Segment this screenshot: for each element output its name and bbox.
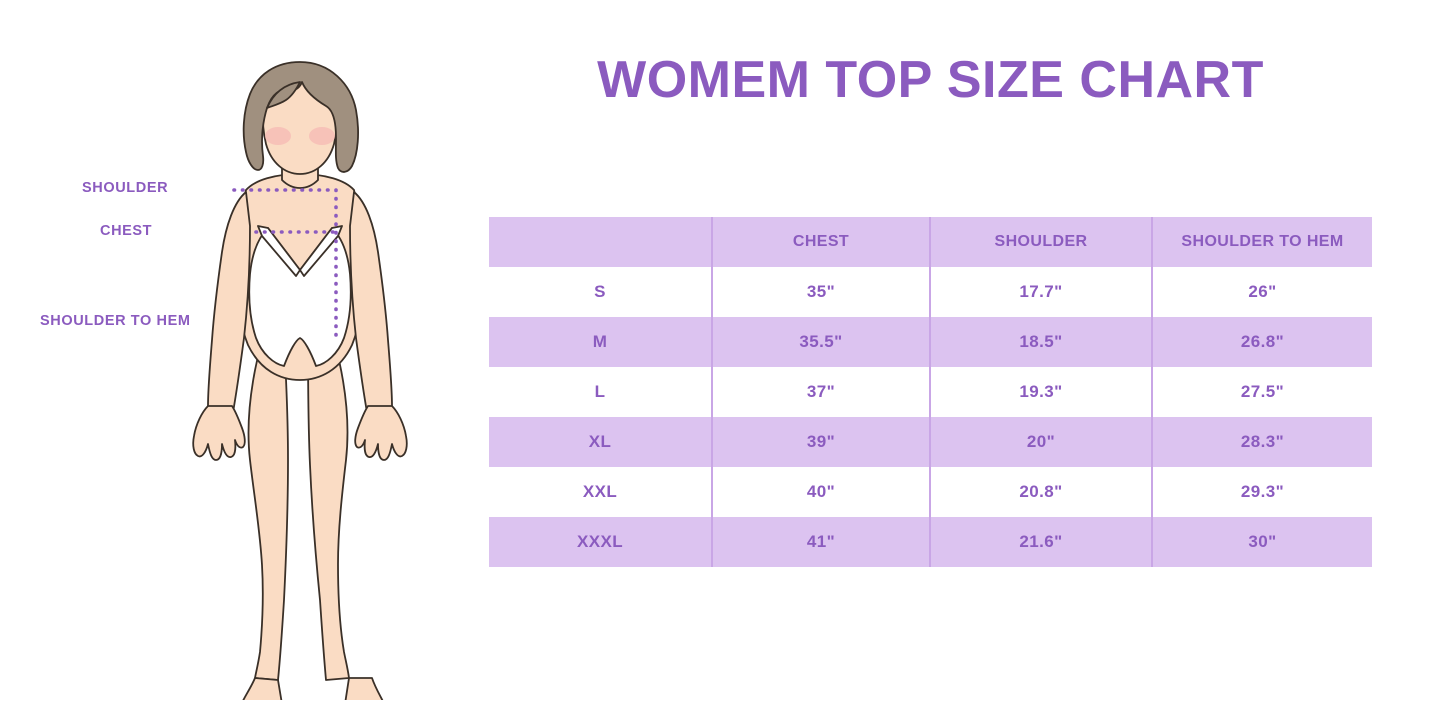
cell-size: XXL	[489, 467, 712, 517]
table-row: XXL 40" 20.8" 29.3"	[489, 467, 1372, 517]
cell-shoulder-to-hem: 27.5"	[1152, 367, 1372, 417]
cell-shoulder: 21.6"	[930, 517, 1152, 567]
label-chest: CHEST	[100, 223, 152, 239]
cell-shoulder: 20"	[930, 417, 1152, 467]
cell-shoulder-to-hem: 30"	[1152, 517, 1372, 567]
cell-shoulder-to-hem: 29.3"	[1152, 467, 1372, 517]
cell-size: XL	[489, 417, 712, 467]
size-chart-page: WOMEM TOP SIZE CHART	[0, 0, 1445, 723]
right-leg	[308, 340, 349, 680]
table-header-row: CHEST SHOULDER SHOULDER TO HEM	[489, 217, 1372, 267]
table-row: XL 39" 20" 28.3"	[489, 417, 1372, 467]
cell-shoulder-to-hem: 26"	[1152, 267, 1372, 317]
left-cheek-blush	[265, 127, 291, 145]
size-chart-table: CHEST SHOULDER SHOULDER TO HEM S 35" 17.…	[489, 217, 1372, 567]
cell-shoulder: 20.8"	[930, 467, 1152, 517]
column-header-size	[489, 217, 712, 267]
cell-shoulder-to-hem: 26.8"	[1152, 317, 1372, 367]
right-cheek-blush	[309, 127, 335, 145]
cell-chest: 35.5"	[712, 317, 930, 367]
table-row: XXXL 41" 21.6" 30"	[489, 517, 1372, 567]
cell-chest: 39"	[712, 417, 930, 467]
cell-chest: 40"	[712, 467, 930, 517]
cell-shoulder-to-hem: 28.3"	[1152, 417, 1372, 467]
page-title: WOMEM TOP SIZE CHART	[489, 50, 1372, 110]
right-hand	[355, 406, 407, 460]
column-header-chest: CHEST	[712, 217, 930, 267]
label-shoulder: SHOULDER	[82, 180, 168, 196]
table-row: L 37" 19.3" 27.5"	[489, 367, 1372, 417]
cell-size: S	[489, 267, 712, 317]
cell-chest: 35"	[712, 267, 930, 317]
cell-chest: 37"	[712, 367, 930, 417]
label-shoulder-to-hem: SHOULDER TO HEM	[40, 313, 191, 329]
cell-chest: 41"	[712, 517, 930, 567]
cell-shoulder: 17.7"	[930, 267, 1152, 317]
cell-size: M	[489, 317, 712, 367]
column-header-shoulder: SHOULDER	[930, 217, 1152, 267]
table-row: S 35" 17.7" 26"	[489, 267, 1372, 317]
cell-shoulder: 19.3"	[930, 367, 1152, 417]
left-hand	[193, 406, 245, 460]
left-leg	[249, 340, 289, 680]
column-header-shoulder-to-hem: SHOULDER TO HEM	[1152, 217, 1372, 267]
cell-size: L	[489, 367, 712, 417]
table-row: M 35.5" 18.5" 26.8"	[489, 317, 1372, 367]
right-foot	[345, 678, 387, 700]
left-arm	[208, 192, 250, 429]
cell-size: XXXL	[489, 517, 712, 567]
left-foot	[240, 678, 283, 700]
cell-shoulder: 18.5"	[930, 317, 1152, 367]
female-body-illustration	[150, 40, 450, 700]
right-arm	[350, 192, 392, 429]
